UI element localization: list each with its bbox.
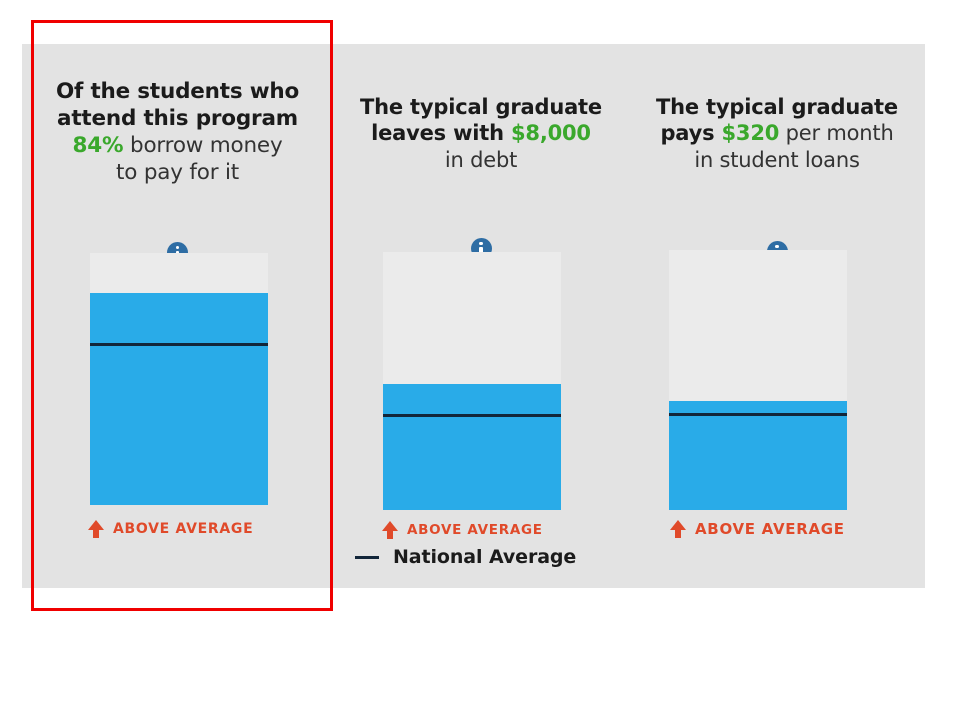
info-icon-dot (479, 242, 482, 245)
comparison-badge-borrowing: ABOVE AVERAGE (88, 520, 253, 538)
panel-borrowing-headline: Of the students who attend this program … (22, 78, 333, 186)
headline-line-3: in debt (445, 148, 517, 172)
bar-fill-borrowing (90, 293, 268, 505)
arrow-up-icon (382, 521, 398, 539)
bar-track-borrowing (90, 253, 268, 505)
panel-debt: The typical graduate leaves with $8,000 … (333, 44, 629, 588)
national-average-line (383, 414, 561, 417)
panel-monthly-payment: The typical graduate pays $320 per month… (629, 44, 925, 588)
headline-line-2-post: per month (779, 121, 893, 145)
panel-monthly-payment-headline: The typical graduate pays $320 per month… (629, 94, 925, 173)
stat-value-monthly-payment: $320 (722, 121, 780, 145)
headline-line-2-pre: leaves with (371, 121, 511, 145)
headline-line-2-pre: pays (660, 121, 721, 145)
panel-borrowing: Of the students who attend this program … (22, 44, 333, 588)
arrow-up-icon (670, 520, 686, 538)
info-icon-dot (775, 245, 778, 248)
arrow-up-icon (88, 520, 104, 538)
bar-fill-monthly-payment (669, 401, 847, 510)
panel-debt-headline: The typical graduate leaves with $8,000 … (333, 94, 629, 173)
line-swatch-icon (355, 556, 379, 559)
headline-line-3-rest: borrow money (123, 133, 282, 158)
bar-track-monthly-payment (669, 250, 847, 510)
info-icon-dot (176, 246, 179, 249)
comparison-label: ABOVE AVERAGE (407, 522, 543, 538)
national-average-line (669, 413, 847, 416)
national-average-line (90, 343, 268, 346)
headline-line-4: to pay for it (116, 160, 239, 185)
headline-line-1: The typical graduate (360, 95, 602, 119)
comparison-label: ABOVE AVERAGE (113, 521, 253, 537)
stat-value-debt: $8,000 (511, 121, 591, 145)
comparison-badge-monthly-payment: ABOVE AVERAGE (670, 520, 845, 538)
infographic-stage: Of the students who attend this program … (0, 0, 963, 711)
headline-line-2: attend this program (57, 106, 298, 131)
legend-national-average: National Average (355, 546, 576, 568)
headline-line-3: in student loans (694, 148, 859, 172)
bar-track-debt (383, 252, 561, 510)
comparison-label: ABOVE AVERAGE (695, 520, 845, 538)
legend-label: National Average (393, 546, 576, 568)
bar-fill-debt (383, 384, 561, 510)
headline-line-1: The typical graduate (656, 95, 898, 119)
stat-value-borrow-percent: 84% (73, 133, 124, 158)
headline-line-1: Of the students who (56, 79, 299, 104)
comparison-badge-debt: ABOVE AVERAGE (382, 521, 543, 539)
